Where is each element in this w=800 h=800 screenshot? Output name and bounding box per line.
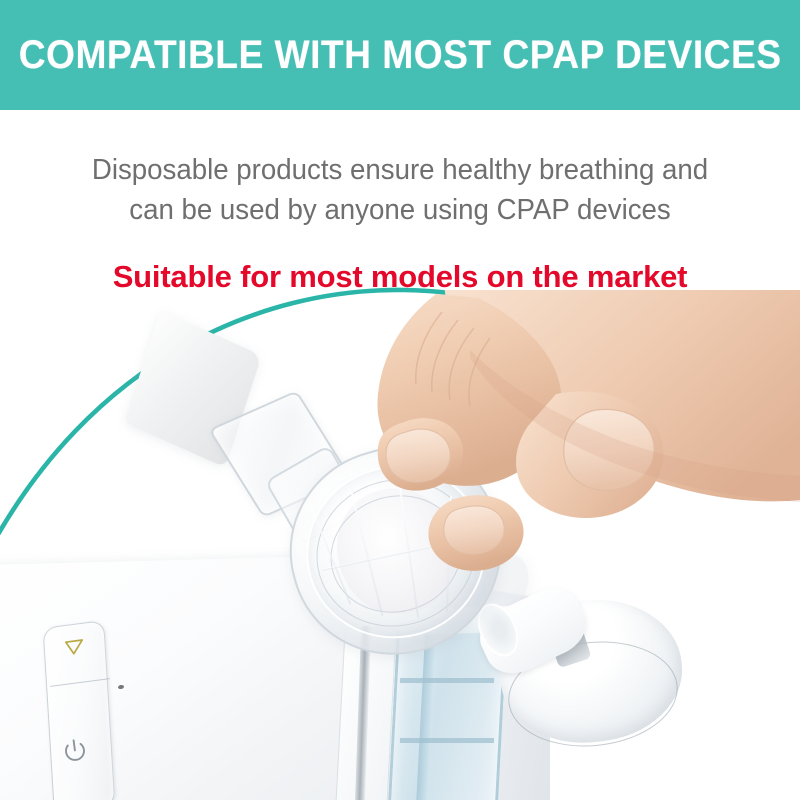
product-photo	[0, 290, 800, 800]
tagline: Suitable for most models on the market	[0, 258, 800, 296]
marketing-image-root: COMPATIBLE WITH MOST CPAP DEVICES Dispos…	[0, 0, 800, 800]
index-nail	[386, 429, 450, 482]
middle-nail	[444, 506, 504, 554]
human-hand	[0, 290, 800, 800]
